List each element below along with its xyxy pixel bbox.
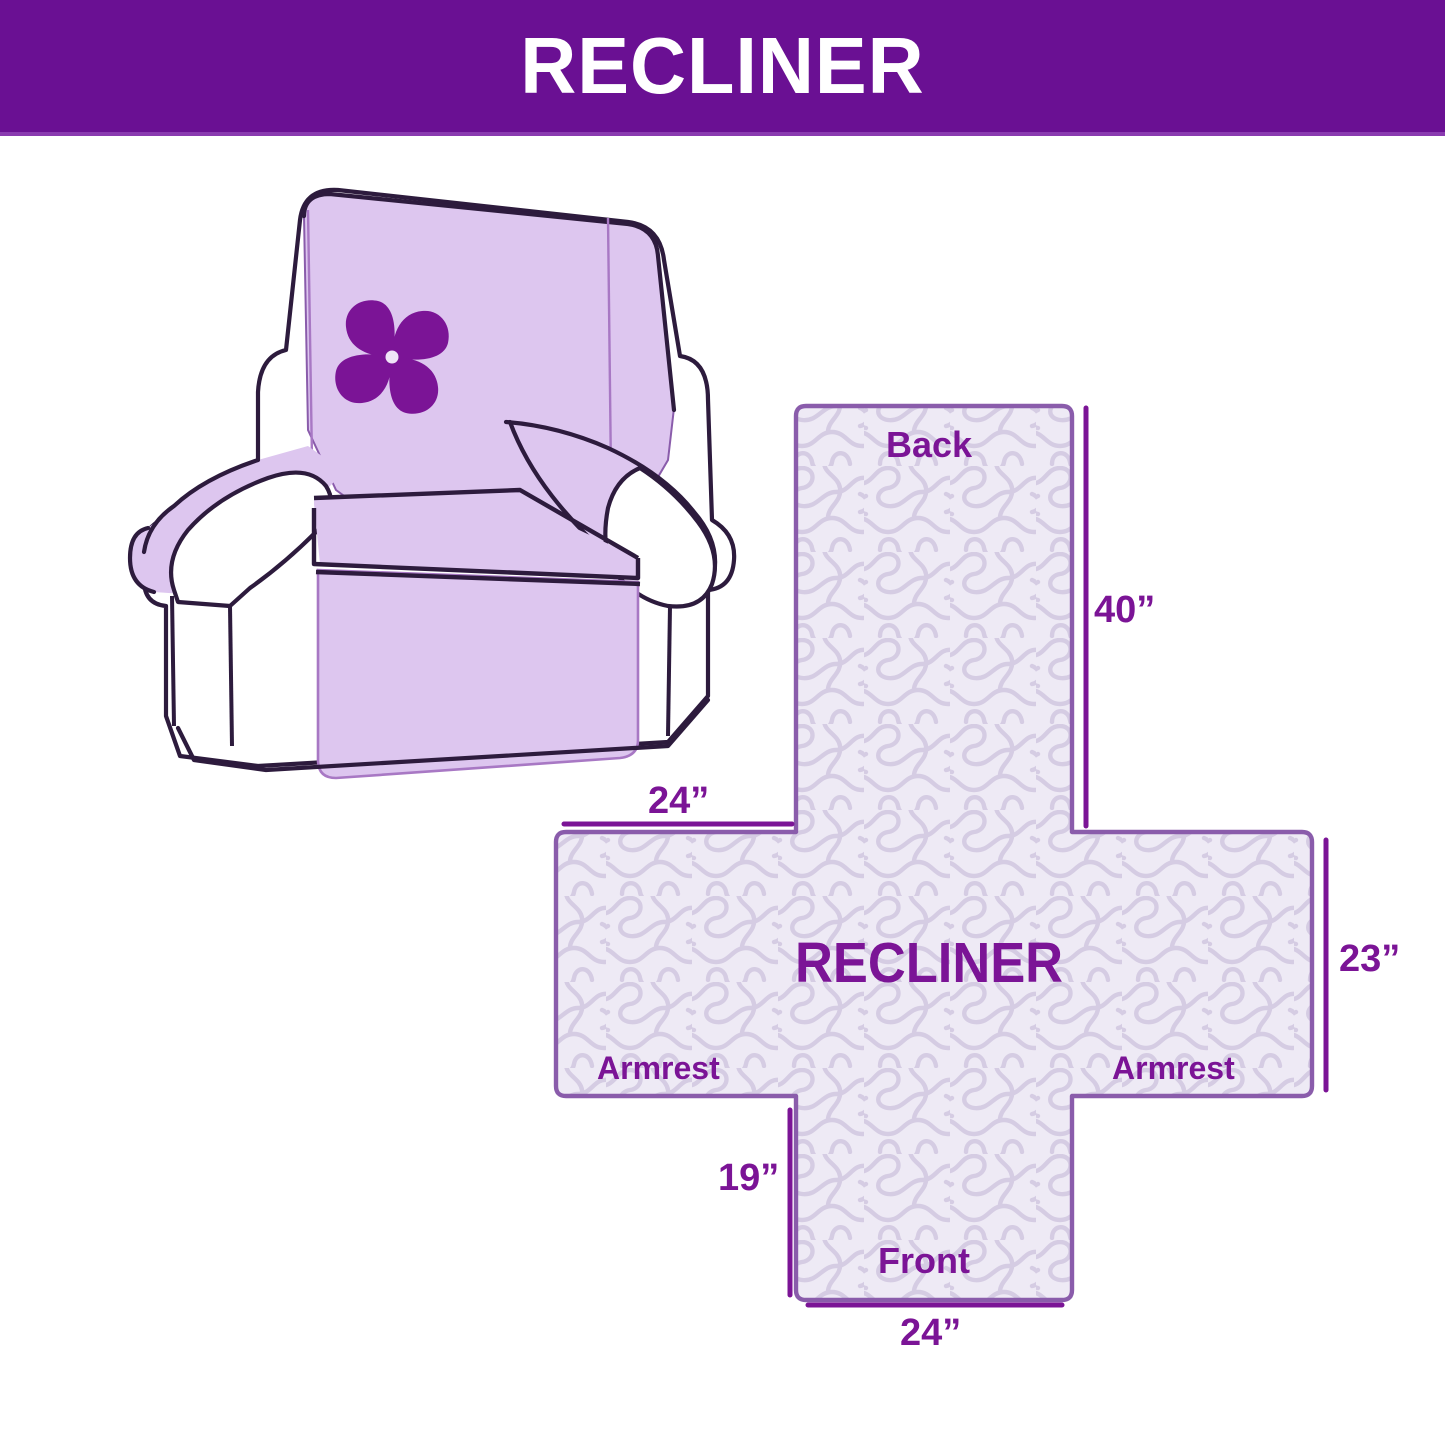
cover-label-front: Front: [878, 1240, 970, 1282]
cover-label-armrest-right: Armrest: [1112, 1050, 1235, 1087]
product-dimension-infographic: RECLINER: [0, 0, 1445, 1445]
cover-label-center-recliner: RECLINER: [795, 930, 1063, 996]
fan-pinwheel-icon: [335, 300, 449, 414]
cover-panel: [556, 406, 1312, 1300]
dimension-label-front-width: 24”: [900, 1312, 961, 1355]
cover-label-armrest-left: Armrest: [597, 1050, 720, 1087]
header-underline: [0, 132, 1445, 136]
dimension-label-front-height: 19”: [718, 1157, 779, 1200]
page-title: RECLINER: [520, 26, 924, 106]
dimension-label-back-width: 24”: [648, 780, 709, 823]
dimension-label-center-height: 23”: [1339, 938, 1400, 981]
cover-label-back: Back: [886, 424, 972, 466]
dimension-label-back-height: 40”: [1094, 589, 1155, 632]
header-banner: RECLINER: [0, 0, 1445, 132]
cover-flatlay-diagram: [520, 380, 1445, 1370]
